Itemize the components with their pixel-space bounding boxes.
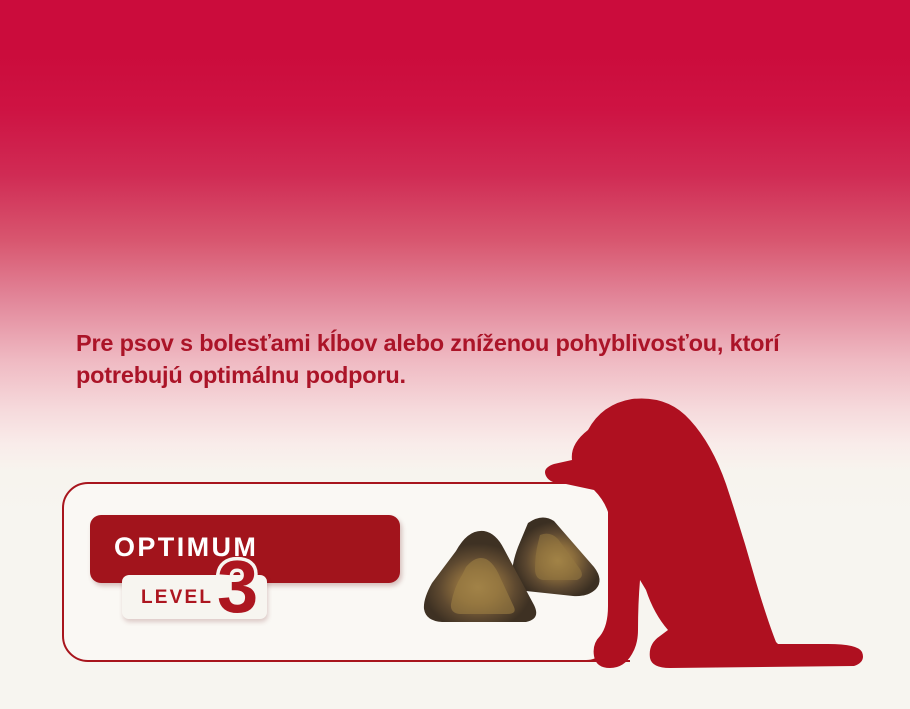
promo-banner: OPTIMUM LEVEL 3 Pre psov s bolesťami kĺb…: [0, 0, 910, 709]
page-headline: Pre psov s bolesťami kĺbov alebo zníženo…: [76, 328, 866, 391]
level-pill-label: LEVEL: [141, 587, 213, 609]
sitting-dog-silhouette-icon: [528, 392, 880, 677]
level-number: 3: [217, 550, 258, 624]
